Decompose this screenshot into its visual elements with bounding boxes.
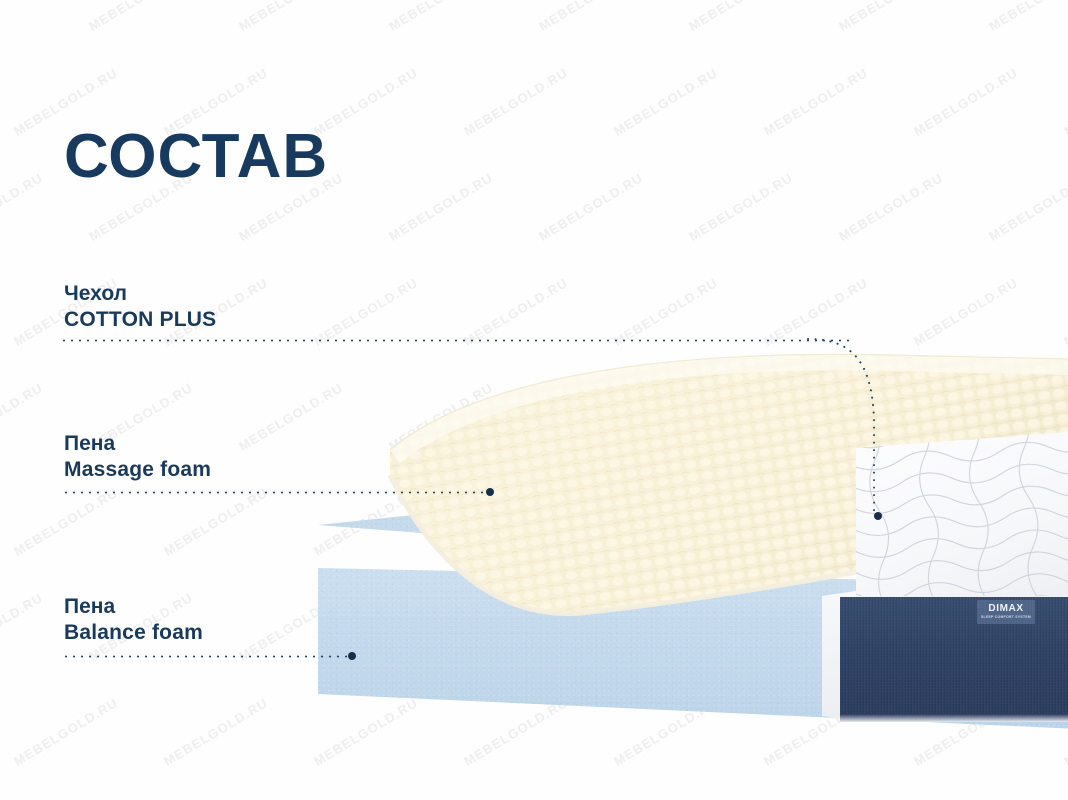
- leader-endpoint-massage-foam: [486, 488, 494, 496]
- mattress-bottom-shadow: [840, 714, 1068, 722]
- dotted-line: [62, 655, 352, 658]
- leader-endpoint-cover: [874, 512, 882, 520]
- layer-label-line1: Пена: [64, 594, 203, 620]
- brand-name: DIMAX: [988, 604, 1023, 614]
- composition-poster: DIMAX SLEEP COMFORT SYSTEM: [0, 0, 1068, 800]
- layer-label-cover: Чехол COTTON PLUS: [64, 281, 216, 332]
- dotted-line: [62, 491, 490, 494]
- layer-label-line2: Massage foam: [64, 457, 211, 483]
- page-title: СОСТАВ: [64, 126, 328, 188]
- leader-line-cover: [60, 339, 850, 342]
- layer-label-balance-foam: Пена Balance foam: [64, 594, 203, 645]
- leader-line-massage-foam: [62, 491, 490, 494]
- layer-label-line2: Balance foam: [64, 620, 203, 646]
- leader-line-balance-foam: [62, 655, 352, 658]
- layer-label-line1: Чехол: [64, 281, 216, 307]
- layer-label-line2: COTTON PLUS: [64, 307, 216, 333]
- leader-endpoint-balance-foam: [348, 652, 356, 660]
- leader-line-cover-curve: [806, 330, 926, 530]
- dimax-brand-tag: DIMAX SLEEP COMFORT SYSTEM: [977, 600, 1035, 624]
- brand-subtitle: SLEEP COMFORT SYSTEM: [981, 616, 1031, 619]
- dotted-line: [60, 339, 850, 342]
- layer-label-line1: Пена: [64, 431, 211, 457]
- layer-label-massage-foam: Пена Massage foam: [64, 431, 211, 482]
